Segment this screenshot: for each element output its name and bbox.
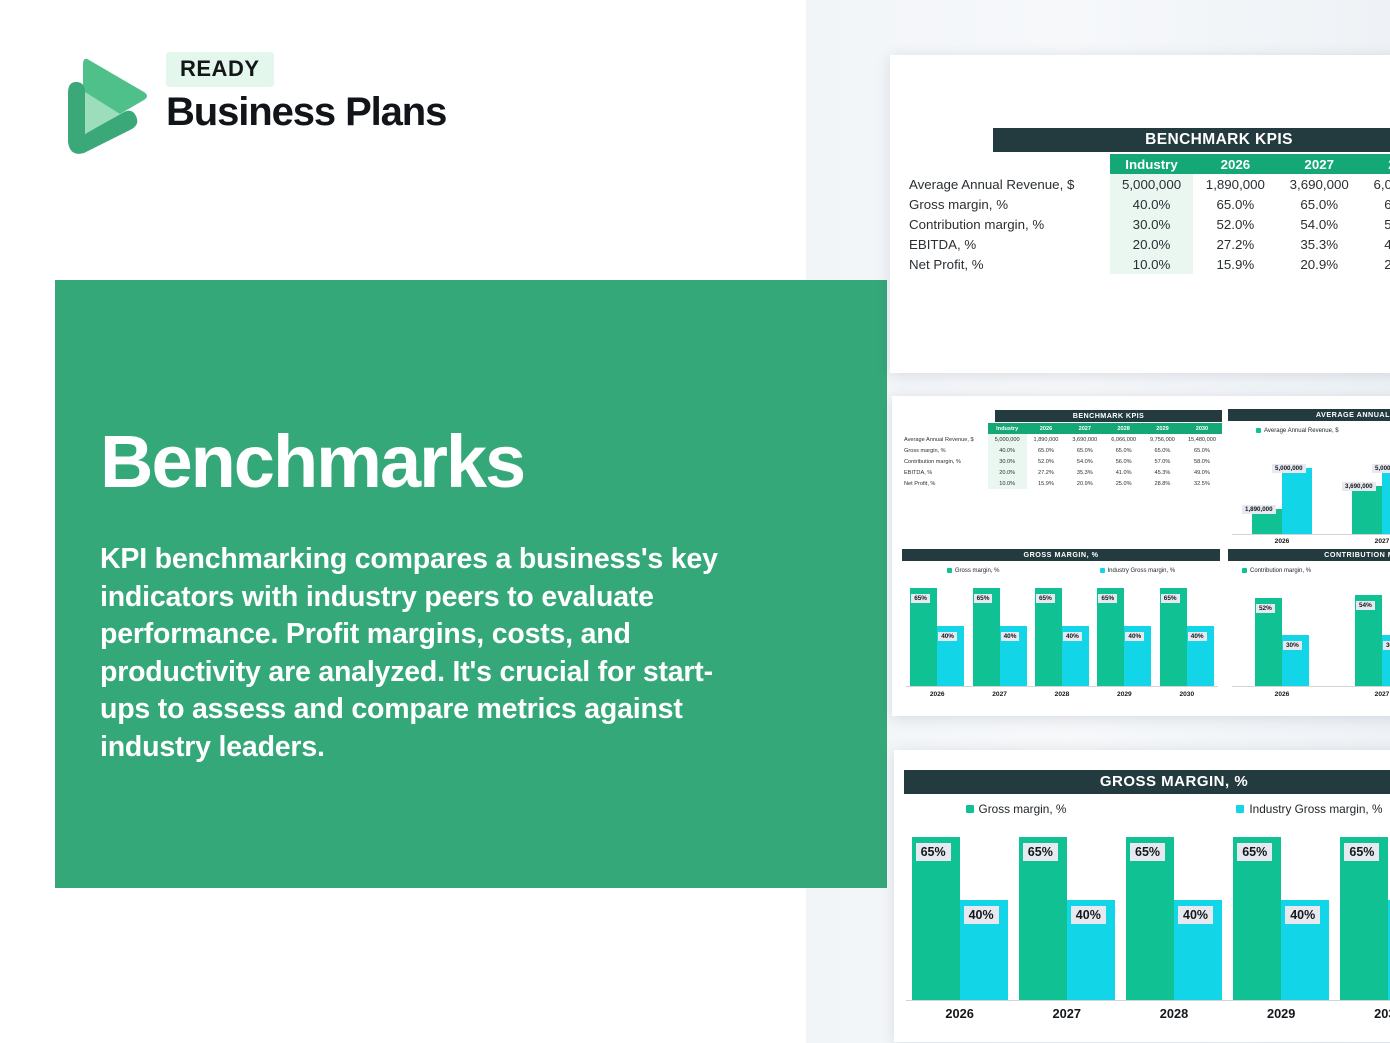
table-header-corner bbox=[900, 423, 988, 434]
table-header-2030: 2030 bbox=[1182, 423, 1222, 434]
chart-contribution-margin: CONTRIBUTION MARGIN, % Contribution marg… bbox=[1228, 544, 1390, 714]
x-axis-label: 2027 bbox=[968, 691, 1030, 698]
chart-bar bbox=[1382, 468, 1390, 534]
table-header-row: Industry20262027202820292030 bbox=[900, 423, 1222, 434]
table-cell: 49.0% bbox=[1182, 467, 1222, 478]
legend-label: Industry Gross margin, % bbox=[1249, 802, 1382, 816]
kpi-table-title-mid: BENCHMARK KPIS bbox=[995, 410, 1222, 422]
bar-value-label: 54% bbox=[1356, 601, 1375, 610]
hero-panel: Benchmarks KPI benchmarking compares a b… bbox=[55, 280, 887, 888]
legend-label: Industry Gross margin, % bbox=[1108, 568, 1176, 574]
legend-swatch-icon bbox=[1100, 568, 1105, 573]
bar-value-label: 30% bbox=[1283, 641, 1302, 650]
bar-value-label: 40% bbox=[964, 906, 999, 924]
brand-logo[interactable]: READY Business Plans bbox=[58, 52, 438, 162]
legend-swatch-icon bbox=[1236, 805, 1244, 813]
bar-value-label: 65% bbox=[1161, 594, 1180, 603]
kpi-table-grid-mid: Industry20262027202820292030 Average Ann… bbox=[900, 423, 1222, 489]
table-cell: 1,890,000 bbox=[1027, 434, 1066, 445]
table-cell: 20.9% bbox=[1277, 254, 1361, 274]
slide-root: READY Business Plans Benchmarks KPI benc… bbox=[0, 0, 1390, 1043]
table-cell: 40.0% bbox=[1110, 194, 1194, 214]
chart-bar bbox=[1282, 468, 1312, 534]
legend-item: Contribution margin, % bbox=[1242, 568, 1311, 574]
table-cell: 10.0% bbox=[988, 478, 1027, 489]
table-header-industry: Industry bbox=[1110, 154, 1194, 174]
table-row-label: EBITDA, % bbox=[900, 467, 988, 478]
table-cell: 3,690,000 bbox=[1277, 174, 1361, 194]
table-cell: 65.0% bbox=[1361, 194, 1390, 214]
chart-legend: Gross margin, % Industry Gross margin, % bbox=[902, 566, 1220, 575]
x-axis-line bbox=[906, 686, 1218, 687]
table-row-label: Gross margin, % bbox=[900, 445, 988, 456]
chart-plot-area: 65%40%202665%40%202765%40%202865%40%2029… bbox=[906, 820, 1390, 1000]
table-cell: 32.5% bbox=[1182, 478, 1222, 489]
hero-description: KPI benchmarking compares a business's k… bbox=[100, 541, 760, 767]
chart-plot-area: 65%40%202665%40%202765%40%202865%40%2029… bbox=[906, 578, 1218, 686]
legend-item: Average Annual Revenue, $ bbox=[1256, 428, 1339, 434]
x-axis-line bbox=[1232, 686, 1390, 687]
bar-value-label: 1,890,000 bbox=[1242, 505, 1276, 514]
table-cell: 5,000,000 bbox=[988, 434, 1027, 445]
kpi-table-grid: Industry202620272028 Average Annual Reve… bbox=[900, 154, 1390, 274]
table-cell: 15,480,000 bbox=[1182, 434, 1222, 445]
table-cell: 65.0% bbox=[1143, 445, 1182, 456]
chart-gross-margin-small: GROSS MARGIN, % Gross margin, % Industry… bbox=[898, 544, 1224, 714]
bar-value-label: 3,690,000 bbox=[1342, 482, 1376, 491]
chart-bar bbox=[1019, 837, 1067, 1000]
bar-value-label: 65% bbox=[1344, 843, 1379, 861]
table-header-industry: Industry bbox=[988, 423, 1027, 434]
legend-label: Gross margin, % bbox=[955, 568, 1000, 574]
bar-value-label: 5,000,000 bbox=[1272, 464, 1306, 473]
x-axis-label: 2026 bbox=[906, 691, 968, 698]
bar-value-label: 65% bbox=[1036, 594, 1055, 603]
legend-item: Gross margin, % bbox=[947, 568, 1000, 574]
bar-value-label: 5,000,000 bbox=[1372, 464, 1390, 473]
bar-value-label: 40% bbox=[1188, 632, 1207, 641]
table-row-label: Average Annual Revenue, $ bbox=[900, 434, 988, 445]
table-cell: 15.9% bbox=[1193, 254, 1277, 274]
table-cell: 27.2% bbox=[1027, 467, 1066, 478]
x-axis-label: 2027 bbox=[1332, 691, 1390, 698]
table-cell: 57.0% bbox=[1143, 456, 1182, 467]
legend-item: Industry Gross margin, % bbox=[1100, 568, 1176, 574]
legend-swatch-icon bbox=[966, 805, 974, 813]
table-cell: 6,066,000 bbox=[1104, 434, 1143, 445]
table-row-label: EBITDA, % bbox=[900, 234, 1110, 254]
chart-bar bbox=[1352, 486, 1382, 534]
x-axis-label: 2027 bbox=[1013, 1006, 1120, 1021]
legend-label: Contribution margin, % bbox=[1250, 568, 1311, 574]
table-cell: 28.8% bbox=[1143, 478, 1182, 489]
legend-label: Gross margin, % bbox=[979, 802, 1067, 816]
x-axis-label: 2026 bbox=[1232, 691, 1332, 698]
brand-wordmark: READY Business Plans bbox=[166, 52, 446, 133]
chart-legend: Average Annual Revenue, $ bbox=[1228, 426, 1390, 435]
bar-value-label: 40% bbox=[1001, 632, 1020, 641]
chart-panel-bottom: GROSS MARGIN, % Gross margin, % Industry… bbox=[894, 750, 1390, 1042]
table-row-label: Net Profit, % bbox=[900, 254, 1110, 274]
table-cell: 25.0% bbox=[1104, 478, 1143, 489]
table-cell: 65.0% bbox=[1182, 445, 1222, 456]
table-header-2026: 2026 bbox=[1027, 423, 1066, 434]
x-axis-line bbox=[1232, 534, 1390, 535]
chart-bar bbox=[1126, 837, 1174, 1000]
table-row: Average Annual Revenue, $5,000,0001,890,… bbox=[900, 174, 1390, 194]
play-triangle-icon bbox=[58, 56, 150, 154]
chart-title: CONTRIBUTION MARGIN, % bbox=[1228, 549, 1390, 561]
table-cell: 65.0% bbox=[1277, 194, 1361, 214]
legend-item: Industry Gross margin, % bbox=[1236, 802, 1382, 816]
table-cell: 25.0% bbox=[1361, 254, 1390, 274]
table-cell: 15.9% bbox=[1027, 478, 1066, 489]
table-cell: 5,000,000 bbox=[1110, 174, 1194, 194]
legend-item: Gross margin, % bbox=[966, 802, 1067, 816]
table-cell: 35.3% bbox=[1277, 234, 1361, 254]
chart-plot-area: 1,890,0005,000,00020263,690,0005,000,000… bbox=[1232, 442, 1390, 534]
chart-bar bbox=[1233, 837, 1281, 1000]
kpi-table-mid: BENCHMARK KPIS Industry20262027202820292… bbox=[900, 410, 1222, 489]
table-cell: 1,890,000 bbox=[1193, 174, 1277, 194]
table-cell: 65.0% bbox=[1027, 445, 1066, 456]
chart-legend: Gross margin, % Industry Gross margin, % bbox=[904, 801, 1390, 817]
table-cell: 3,690,000 bbox=[1065, 434, 1104, 445]
table-cell: 20.9% bbox=[1065, 478, 1104, 489]
table-row-label: Contribution margin, % bbox=[900, 214, 1110, 234]
kpi-table-panel-top: BENCHMARK KPIS Industry202620272028 Aver… bbox=[890, 55, 1390, 373]
bar-value-label: 65% bbox=[974, 594, 993, 603]
x-axis-label: 2028 bbox=[1031, 691, 1093, 698]
table-cell: 41.0% bbox=[1104, 467, 1143, 478]
chart-legend: Contribution margin, % bbox=[1228, 566, 1390, 575]
bar-value-label: 65% bbox=[911, 594, 930, 603]
table-header-row: Industry202620272028 bbox=[900, 154, 1390, 174]
bar-value-label: 40% bbox=[1063, 632, 1082, 641]
bar-value-label: 40% bbox=[1125, 632, 1144, 641]
table-row: Net Profit, %10.0%15.9%20.9%25.0% bbox=[900, 254, 1390, 274]
table-header-2028: 2028 bbox=[1104, 423, 1143, 434]
brand-name: Business Plans bbox=[166, 91, 446, 133]
bar-value-label: 65% bbox=[1098, 594, 1117, 603]
table-header-2027: 2027 bbox=[1065, 423, 1104, 434]
page-title: Benchmarks bbox=[100, 425, 797, 499]
x-axis-label: 2029 bbox=[1228, 1006, 1335, 1021]
table-cell: 35.3% bbox=[1065, 467, 1104, 478]
table-cell: 56.0% bbox=[1361, 214, 1390, 234]
legend-swatch-icon bbox=[1242, 568, 1247, 573]
hero-content: Benchmarks KPI benchmarking compares a b… bbox=[100, 425, 797, 767]
table-row: Gross margin, %40.0%65.0%65.0%65.0% bbox=[900, 194, 1390, 214]
bar-value-label: 40% bbox=[1178, 906, 1213, 924]
table-cell: 65.0% bbox=[1065, 445, 1104, 456]
x-axis-label: 2030 bbox=[1335, 1006, 1390, 1021]
bar-value-label: 65% bbox=[916, 843, 951, 861]
dashboard-panel-middle: BENCHMARK KPIS Industry20262027202820292… bbox=[892, 396, 1390, 716]
bar-value-label: 65% bbox=[1237, 843, 1272, 861]
bar-value-label: 52% bbox=[1256, 604, 1275, 613]
table-cell: 20.0% bbox=[1110, 234, 1194, 254]
legend-swatch-icon bbox=[947, 568, 952, 573]
table-header-2026: 2026 bbox=[1193, 154, 1277, 174]
table-row: Contribution margin, %30.0%52.0%54.0%56.… bbox=[900, 214, 1390, 234]
table-cell: 65.0% bbox=[1104, 445, 1143, 456]
chart-gross-margin-large: GROSS MARGIN, % Gross margin, % Industry… bbox=[894, 750, 1390, 1042]
x-axis-line bbox=[906, 1000, 1390, 1001]
table-cell: 27.2% bbox=[1193, 234, 1277, 254]
table-cell: 45.3% bbox=[1143, 467, 1182, 478]
bar-value-label: 65% bbox=[1023, 843, 1058, 861]
chart-plot-area: 52%30%202654%30%202756%30%2028 bbox=[1232, 578, 1390, 686]
x-axis-label: 2030 bbox=[1156, 691, 1218, 698]
table-row: Contribution margin, %30.0%52.0%54.0%56.… bbox=[900, 456, 1222, 467]
table-row-label: Net Profit, % bbox=[900, 478, 988, 489]
bar-value-label: 65% bbox=[1130, 843, 1165, 861]
table-row-label: Average Annual Revenue, $ bbox=[900, 174, 1110, 194]
table-cell: 58.0% bbox=[1182, 456, 1222, 467]
x-axis-label: 2026 bbox=[906, 1006, 1013, 1021]
chart-bar bbox=[912, 837, 960, 1000]
table-cell: 30.0% bbox=[988, 456, 1027, 467]
table-header-2028: 2028 bbox=[1361, 154, 1390, 174]
ready-badge: READY bbox=[166, 52, 274, 87]
table-cell: 56.0% bbox=[1104, 456, 1143, 467]
chart-average-annual-revenue: AVERAGE ANNUAL REVENUE, $ Average Annual… bbox=[1228, 404, 1390, 538]
bar-value-label: 40% bbox=[938, 632, 957, 641]
table-row: EBITDA, %20.0%27.2%35.3%41.0% bbox=[900, 234, 1390, 254]
table-cell: 40.0% bbox=[988, 445, 1027, 456]
table-cell: 54.0% bbox=[1277, 214, 1361, 234]
table-row: Net Profit, %10.0%15.9%20.9%25.0%28.8%32… bbox=[900, 478, 1222, 489]
table-cell: 52.0% bbox=[1193, 214, 1277, 234]
table-row: Gross margin, %40.0%65.0%65.0%65.0%65.0%… bbox=[900, 445, 1222, 456]
table-cell: 10.0% bbox=[1110, 254, 1194, 274]
bar-value-label: 40% bbox=[1285, 906, 1320, 924]
table-header-2029: 2029 bbox=[1143, 423, 1182, 434]
kpi-table-title: BENCHMARK KPIS bbox=[993, 128, 1390, 152]
chart-title: GROSS MARGIN, % bbox=[904, 770, 1390, 794]
table-cell: 30.0% bbox=[1110, 214, 1194, 234]
kpi-table-top: BENCHMARK KPIS Industry202620272028 Aver… bbox=[900, 128, 1390, 274]
table-row: EBITDA, %20.0%27.2%35.3%41.0%45.3%49.0% bbox=[900, 467, 1222, 478]
chart-title: AVERAGE ANNUAL REVENUE, $ bbox=[1228, 409, 1390, 421]
legend-label: Average Annual Revenue, $ bbox=[1264, 428, 1339, 434]
table-cell: 65.0% bbox=[1193, 194, 1277, 214]
table-row: Average Annual Revenue, $5,000,0001,890,… bbox=[900, 434, 1222, 445]
bar-value-label: 30% bbox=[1383, 641, 1390, 650]
table-row-label: Contribution margin, % bbox=[900, 456, 988, 467]
table-cell: 9,756,000 bbox=[1143, 434, 1182, 445]
table-row-label: Gross margin, % bbox=[900, 194, 1110, 214]
table-cell: 54.0% bbox=[1065, 456, 1104, 467]
table-header-2027: 2027 bbox=[1277, 154, 1361, 174]
table-cell: 52.0% bbox=[1027, 456, 1066, 467]
chart-title: GROSS MARGIN, % bbox=[902, 549, 1220, 561]
table-cell: 20.0% bbox=[988, 467, 1027, 478]
table-cell: 41.0% bbox=[1361, 234, 1390, 254]
legend-swatch-icon bbox=[1256, 428, 1261, 433]
chart-bar bbox=[1340, 837, 1388, 1000]
bar-value-label: 40% bbox=[1071, 906, 1106, 924]
x-axis-label: 2028 bbox=[1120, 1006, 1227, 1021]
table-header-corner bbox=[900, 154, 1110, 174]
table-cell: 6,066,000 bbox=[1361, 174, 1390, 194]
x-axis-label: 2029 bbox=[1093, 691, 1155, 698]
